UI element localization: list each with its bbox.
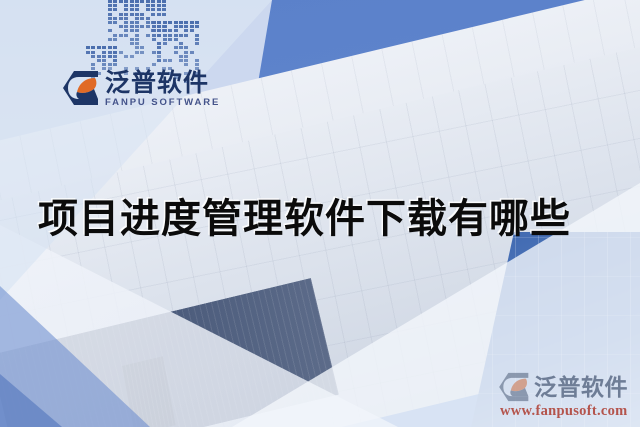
promo-banner: 泛普软件 FANPU SOFTWARE 项目进度管理软件下载有哪些 泛普软件 w… xyxy=(0,0,640,427)
logo-name-en: FANPU SOFTWARE xyxy=(105,97,220,109)
logo-name-cn: 泛普软件 xyxy=(105,70,220,96)
site-watermark: 泛普软件 www.fanpusoft.com xyxy=(498,372,638,420)
fanpu-shield-swoosh-icon xyxy=(62,70,102,106)
company-logo: 泛普软件 FANPU SOFTWARE xyxy=(62,70,220,109)
watermark-url: www.fanpusoft.com xyxy=(500,403,638,420)
pixel-city-skyline-icon xyxy=(86,0,198,72)
fanpu-shield-swoosh-icon xyxy=(498,372,532,402)
watermark-name-cn: 泛普软件 xyxy=(534,375,628,400)
page-title: 项目进度管理软件下载有哪些 xyxy=(38,186,571,244)
